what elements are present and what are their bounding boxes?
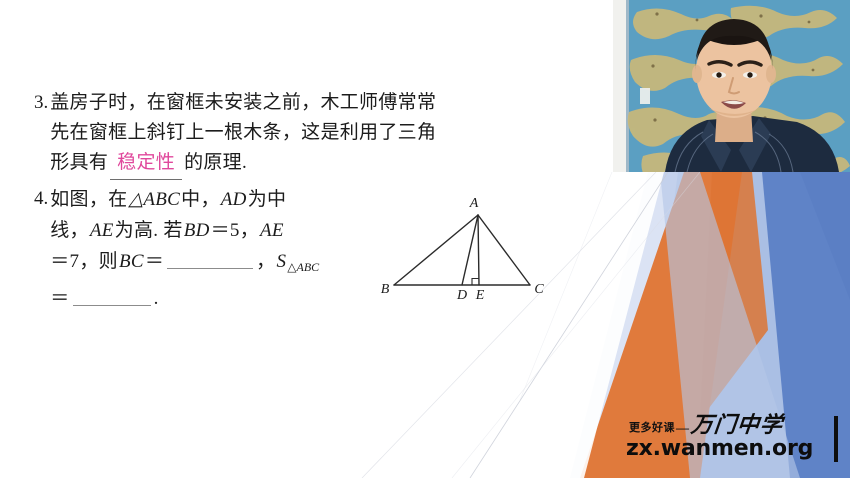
q4-segment-bd: BD [183,220,211,241]
q4-l1-mid: 中， [181,189,220,210]
slide-canvas: 3. 盖房子时，在窗框未安装之前，木工师傅常常 先在窗框上斜钉上一根木条，这是利… [0,0,850,478]
figure-label-d: D [456,288,467,303]
question-4-line-2: 线，AE为高. 若BD＝5，AE [50,215,380,246]
q4-l3-equals: ＝ [145,251,164,272]
watermark-brand-name: 万门中学 [690,414,784,436]
decor-orange-overlay [700,172,768,420]
q4-l4-period: . [154,288,159,309]
q4-l2-eq: ＝5， [211,220,259,241]
question-3-answer-blank[interactable]: 稳定性 [110,148,182,180]
video-person-ear-left [692,65,702,83]
watermark-tagline: 更多好课 [629,422,675,436]
figure-label-c: C [534,282,544,297]
question-3-line-1: 盖房子时，在窗框未安装之前，木工师傅常常 [50,88,436,118]
q4-segment-ad: AD [220,189,248,210]
figure-label-a: A [469,196,479,211]
instructor-video-overlay[interactable] [613,0,850,172]
q4-l2-mid: 为高. 若 [115,220,183,241]
figure-segment-ac [478,215,530,285]
q4-segment-bc: BC [118,251,145,272]
figure-label-b: B [381,282,390,297]
q4-triangle-abc: △ABC [127,189,181,210]
video-person-pupil-right [747,72,752,77]
instructor-video-frame [613,0,850,172]
question-3-body: 盖房子时，在窗框未安装之前，木工师傅常常 先在窗框上斜钉上一根木条，这是利用了三… [50,88,436,180]
figure-segment-ae-altitude [478,215,479,285]
q4-area-symbol: S [275,251,287,272]
question-4-body: 如图，在△ABC中，AD为中 线，AE为高. 若BD＝5，AE ＝7，则BC＝，… [50,184,380,314]
question-3-line-3: 形具有稳定性的原理. [50,148,436,180]
question-3-line-2: 先在窗框上斜钉上一根木条，这是利用了三角 [50,118,436,148]
q4-l3-eq: ＝7，则 [50,251,118,272]
video-wall-note [640,88,650,104]
figure-segment-ab [394,215,478,285]
question-4-line-3: ＝7，则BC＝，S△ABC [50,246,380,283]
question-3-number: 3. [34,88,50,118]
q4-l2-pre: 线， [50,220,89,241]
question-4-blank-bc[interactable] [167,251,253,269]
geometry-figure-triangle: A B C D E [378,193,548,305]
question-4-blank-area[interactable] [73,288,151,306]
q4-l1-pre: 如图，在 [50,189,127,210]
q4-segment-ae-2: AE [259,220,285,241]
video-left-wall-edge [626,0,629,172]
video-left-wall-strip [613,0,626,172]
question-3-line-3-prefix: 形具有 [50,152,108,173]
figure-right-angle-mark [472,279,479,286]
question-4-line-4: ＝. [50,283,380,314]
watermark-branding: 更多好课 — 万门中学 zx.wanmen.org [624,414,844,466]
watermark-vertical-bar [834,416,838,462]
q4-l3-comma: ， [256,251,275,272]
q4-segment-ae: AE [89,220,115,241]
q4-l4-equals: ＝ [50,288,69,309]
question-3-line-3-suffix: 的原理. [184,152,247,173]
question-3: 3. 盖房子时，在窗框未安装之前，木工师傅常常 先在窗框上斜钉上一根木条，这是利… [34,88,579,180]
q4-l1-post: 为中 [248,189,287,210]
question-4-number: 4. [34,184,50,214]
watermark-dash: — [675,422,691,436]
video-person-ear-right [766,65,776,83]
q4-area-subscript: △ABC [287,260,319,274]
watermark-url: zx.wanmen.org [624,436,844,461]
watermark-tagline-row: 更多好课 — 万门中学 [624,414,844,436]
video-person-pupil-left [716,72,721,77]
question-4-line-1: 如图，在△ABC中，AD为中 [50,184,380,215]
figure-label-e: E [475,288,485,303]
